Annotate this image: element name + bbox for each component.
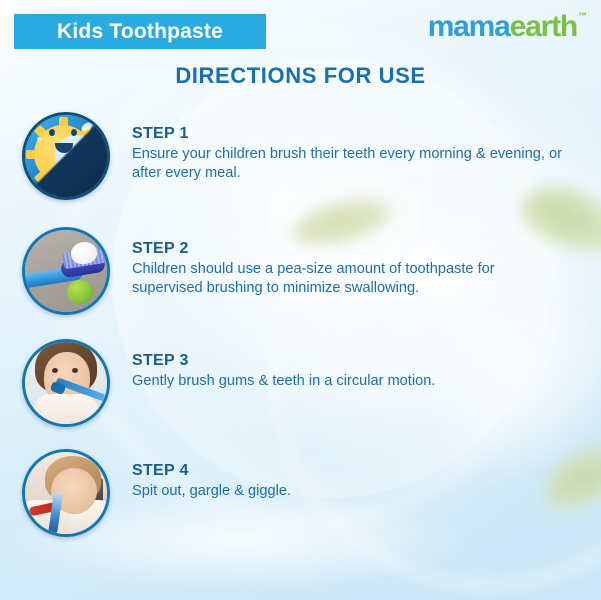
step-body: Children should use a pea-size amount of… bbox=[132, 260, 562, 298]
step-title: STEP 3 bbox=[132, 352, 435, 370]
list-item-step-1: STEP 1 Ensure your children brush their … bbox=[0, 112, 601, 227]
page-title: DIRECTIONS FOR USE bbox=[0, 63, 601, 89]
step-title: STEP 2 bbox=[132, 240, 562, 258]
steps-list: STEP 1 Ensure your children brush their … bbox=[0, 112, 601, 559]
sun-moon-face-icon bbox=[22, 112, 110, 200]
list-item-step-2: STEP 2 Children should use a pea-size am… bbox=[0, 227, 601, 339]
product-title-banner: Kids Toothpaste bbox=[14, 14, 266, 49]
step-text-block: STEP 4 Spit out, gargle & giggle. bbox=[110, 449, 291, 501]
list-item-step-3: STEP 3 Gently brush gums & teeth in a ci… bbox=[0, 339, 601, 449]
step-body: Spit out, gargle & giggle. bbox=[132, 482, 291, 501]
step-text-block: STEP 1 Ensure your children brush their … bbox=[110, 112, 562, 183]
girl-brushing-teeth-photo bbox=[22, 339, 110, 427]
brand-logo-wordmark: mamaearth bbox=[428, 10, 577, 44]
step-text-block: STEP 2 Children should use a pea-size am… bbox=[110, 227, 562, 298]
step-text-block: STEP 3 Gently brush gums & teeth in a ci… bbox=[110, 339, 435, 391]
brand-logo-mama-text: mama bbox=[428, 10, 510, 43]
brand-logo-earth-text: earth bbox=[510, 10, 577, 43]
brand-logo: mamaearth ™ bbox=[428, 10, 587, 44]
step-title: STEP 1 bbox=[132, 125, 562, 143]
step-body: Gently brush gums & teeth in a circular … bbox=[132, 372, 435, 391]
step-body: Ensure your children brush their teeth e… bbox=[132, 145, 562, 183]
boy-at-sink-photo bbox=[22, 449, 110, 537]
step-title: STEP 4 bbox=[132, 462, 291, 480]
list-item-step-4: STEP 4 Spit out, gargle & giggle. bbox=[0, 449, 601, 559]
toothbrush-with-paste-icon bbox=[22, 227, 110, 315]
trademark-icon: ™ bbox=[578, 10, 587, 22]
product-title-label: Kids Toothpaste bbox=[57, 20, 223, 44]
directions-for-use-infographic: Kids Toothpaste mamaearth ™ DIRECTIONS F… bbox=[0, 0, 601, 600]
